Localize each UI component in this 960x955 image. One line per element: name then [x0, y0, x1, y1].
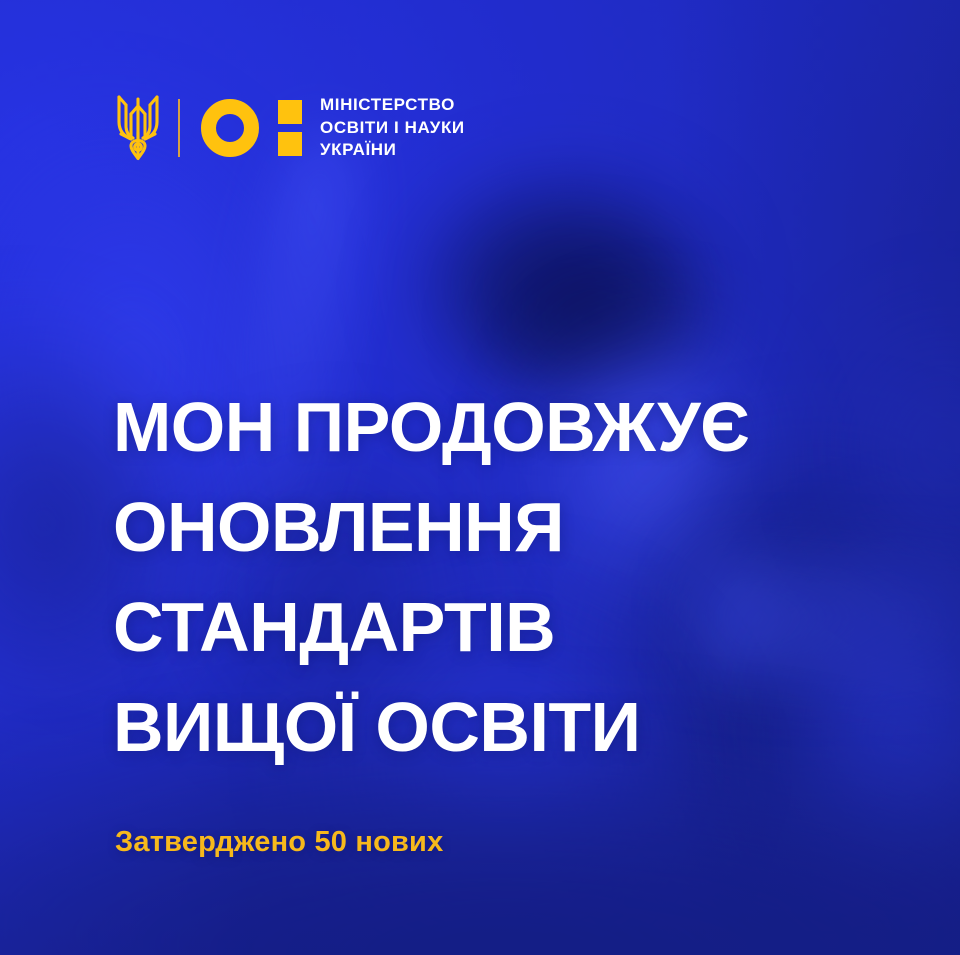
mon-bars-shape [278, 100, 302, 156]
ministry-logo-text: МІНІСТЕРСТВО ОСВІТИ І НАУКИ УКРАЇНИ [320, 94, 465, 162]
mon-logomark-icon [201, 99, 302, 157]
logo-divider [178, 99, 180, 157]
headline-line-1: МОН ПРОДОВЖУЄ [113, 377, 749, 477]
mon-bar-top [278, 100, 302, 124]
logo-text-line-2: ОСВІТИ І НАУКИ [320, 117, 465, 140]
logo-text-line-1: МІНІСТЕРСТВО [320, 94, 465, 117]
mon-bar-bottom [278, 132, 302, 156]
poster-canvas: МІНІСТЕРСТВО ОСВІТИ І НАУКИ УКРАЇНИ МОН … [0, 0, 960, 955]
subtitle: Затверджено 50 нових [115, 826, 443, 859]
logo-text-line-3: УКРАЇНИ [320, 139, 465, 162]
headline: МОН ПРОДОВЖУЄ ОНОВЛЕННЯ СТАНДАРТІВ ВИЩОЇ… [113, 377, 749, 777]
headline-line-2: ОНОВЛЕННЯ [113, 477, 749, 577]
headline-line-4: ВИЩОЇ ОСВІТИ [113, 677, 749, 777]
mon-ring-shape [201, 99, 259, 157]
ukraine-trident-icon [111, 92, 165, 164]
ministry-logo-lockup: МІНІСТЕРСТВО ОСВІТИ І НАУКИ УКРАЇНИ [111, 92, 465, 164]
headline-line-3: СТАНДАРТІВ [113, 577, 749, 677]
